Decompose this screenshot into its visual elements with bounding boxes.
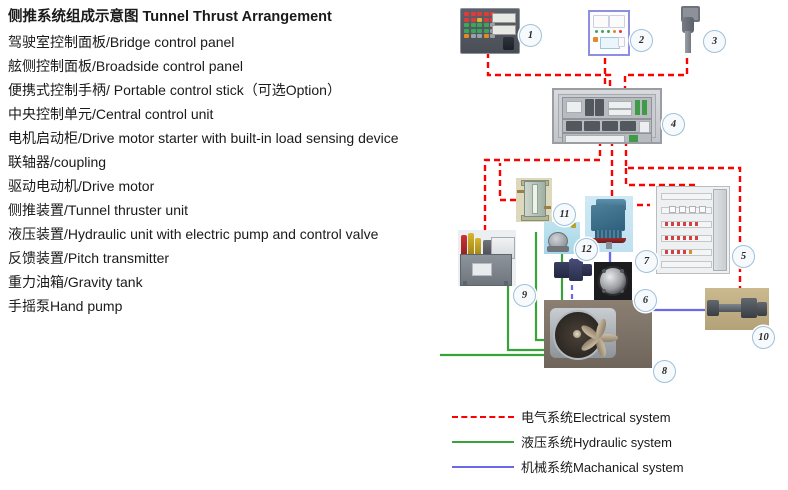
item-label-2: 舷侧控制面板/Broadside control panel	[8, 54, 460, 78]
legend-text-panel: 侧推系统组成示意图 Tunnel Thrust Arrangement 驾驶室控…	[8, 6, 460, 318]
legend-label-hydraulic: 液压系统Hydraulic system	[521, 432, 672, 451]
legend-label-electrical: 电气系统Electrical system	[521, 407, 671, 426]
display-upper	[492, 13, 516, 23]
system-legend: 电气系统Electrical system 液压系统Hydraulic syst…	[452, 404, 788, 479]
callout-badge-5: 5	[732, 245, 755, 268]
page-title: 侧推系统组成示意图 Tunnel Thrust Arrangement	[8, 6, 460, 28]
nameplate	[472, 263, 492, 276]
display-lower	[492, 25, 516, 35]
item-label-6: 联轴器/coupling	[8, 150, 460, 174]
item-label-12: 手摇泵Hand pump	[8, 294, 460, 318]
equipment-gearbox	[554, 258, 594, 284]
equipment-gravity-tank[interactable]	[516, 178, 552, 222]
callout-badge-12: 12	[575, 238, 598, 261]
legend-row-hydraulic: 液压系统Hydraulic system	[452, 429, 788, 454]
callout-badge-9: 9	[513, 284, 536, 307]
shelf-top	[562, 97, 652, 119]
callout-badge-7: 7	[635, 250, 658, 273]
callout-badge-10: 10	[752, 326, 775, 349]
display-left	[593, 15, 609, 28]
electrical-line-swatch	[452, 416, 514, 418]
thruster-fins	[595, 230, 622, 238]
equipment-portable-control-stick[interactable]	[672, 6, 704, 58]
level-gauge	[532, 184, 538, 214]
indicator-right	[618, 37, 625, 47]
item-label-11: 重力油箱/Gravity tank	[8, 270, 460, 294]
item-label-5: 电机启动柜/Drive motor starter with built-in …	[8, 126, 460, 150]
callout-badge-2: 2	[630, 29, 653, 52]
indicator-orange	[593, 37, 598, 42]
equipment-drive-motor-starter[interactable]	[656, 186, 730, 274]
item-label-10: 反馈装置/Pitch transmitter	[8, 246, 460, 270]
pump-base	[547, 246, 569, 252]
legend-row-mechanical: 机械系统Machanical system	[452, 454, 788, 479]
item-label-1: 驾驶室控制面板/Bridge control panel	[8, 30, 460, 54]
thruster-shaft	[606, 242, 612, 249]
callout-badge-4: 4	[662, 113, 685, 136]
equipment-hydraulic-unit[interactable]	[458, 230, 516, 286]
keypad[interactable]	[600, 37, 620, 49]
equipment-central-control-unit[interactable]	[552, 88, 662, 144]
callout-badge-11: 11	[553, 203, 576, 226]
thruster-body	[591, 205, 625, 231]
item-label-3: 便携式控制手柄/ Portable control stick（可选Option…	[8, 78, 460, 102]
stick-shaft	[685, 31, 691, 53]
cabinet-interior	[558, 94, 656, 138]
display-right	[609, 15, 625, 28]
legend-label-mechanical: 机械系统Machanical system	[521, 457, 684, 476]
shelf-middle	[562, 119, 652, 133]
callout-badge-6: 6	[634, 289, 657, 312]
lever-tip	[571, 223, 576, 228]
item-label-9: 液压装置/Hydraulic unit with electric pump a…	[8, 222, 460, 246]
hydraulic-line-swatch	[452, 441, 514, 443]
equipment-drive-motor[interactable]	[544, 300, 652, 368]
shelf-bottom	[562, 133, 652, 144]
equipment-pitch-transmitter[interactable]	[705, 288, 769, 330]
equipment-coupling[interactable]	[594, 262, 632, 300]
equipment-bridge-control-panel[interactable]	[460, 8, 520, 54]
callout-badge-8: 8	[653, 360, 676, 383]
legend-row-electrical: 电气系统Electrical system	[452, 404, 788, 429]
button-grid	[464, 12, 495, 38]
cabinet-door[interactable]	[713, 189, 727, 271]
joystick-knob[interactable]	[503, 37, 514, 50]
propeller-hub	[573, 330, 581, 338]
mechanical-line-swatch	[452, 466, 514, 468]
equipment-broadside-control-panel[interactable]	[588, 10, 630, 56]
system-diagram: 1 2 3	[440, 0, 788, 400]
callout-badge-1: 1	[519, 24, 542, 47]
callout-badge-3: 3	[703, 30, 726, 53]
item-label-4: 中央控制单元/Central control unit	[8, 102, 460, 126]
item-label-8: 侧推装置/Tunnel thruster unit	[8, 198, 460, 222]
item-label-7: 驱动电动机/Drive motor	[8, 174, 460, 198]
